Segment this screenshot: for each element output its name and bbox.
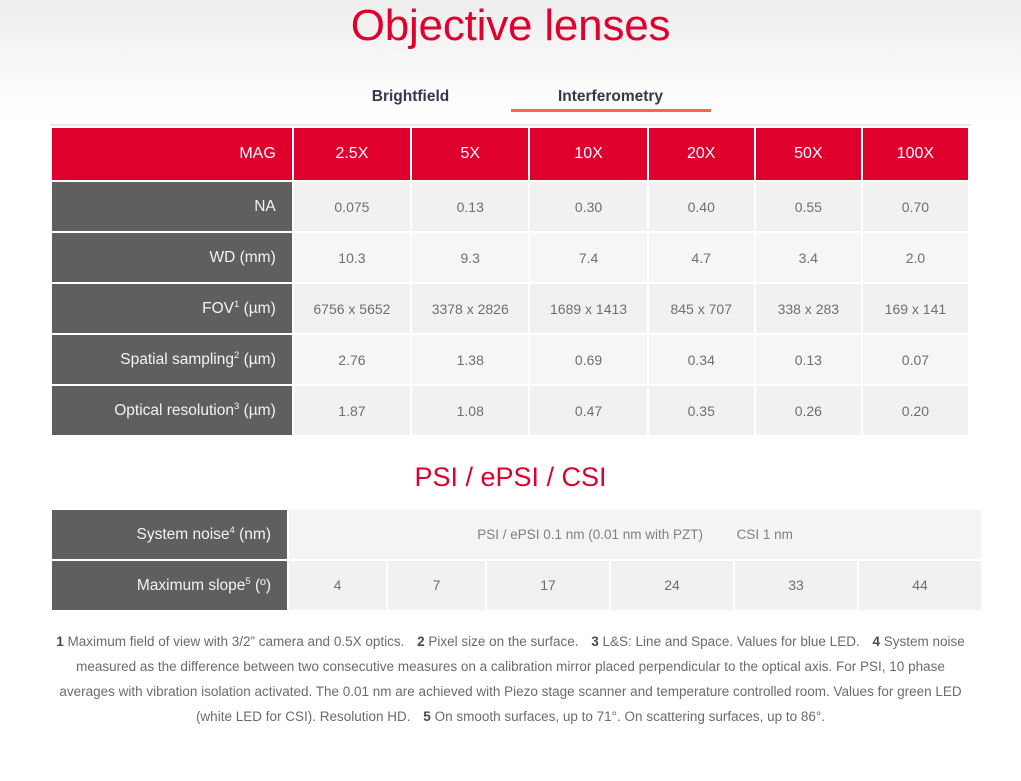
tab-brightfield-label: Brightfield — [372, 88, 450, 105]
row-label-spatial-sampling-superscript: 2 — [234, 350, 239, 361]
table-row: Maximum slope5 (º) 4 7 17 24 33 44 — [52, 561, 981, 610]
cell-wd-20x: 4.7 — [649, 233, 754, 282]
cell-optres-100x: 0.20 — [863, 386, 968, 435]
cell-fov-100x: 169 x 141 — [863, 284, 968, 333]
cell-spatial-50x: 0.13 — [756, 335, 861, 384]
row-label-spatial-sampling: Spatial sampling2 (µm) — [52, 335, 292, 384]
row-label-system-noise-superscript: 4 — [230, 525, 235, 536]
table-row: NA 0.075 0.13 0.30 0.40 0.55 0.70 — [52, 182, 968, 231]
cell-maxslope-4: 24 — [611, 561, 733, 610]
cell-optres-2_5x: 1.87 — [294, 386, 410, 435]
lens-col-header-2: 10X — [530, 128, 646, 180]
row-label-maximum-slope: Maximum slope5 (º) — [52, 561, 287, 610]
lens-col-header-5: 100X — [863, 128, 968, 180]
cell-fov-50x: 338 x 283 — [756, 284, 861, 333]
cell-spatial-2_5x: 2.76 — [294, 335, 410, 384]
row-label-fov: FOV1 (µm) — [52, 284, 292, 333]
cell-na-100x: 0.70 — [863, 182, 968, 231]
tab-bar-divider — [50, 124, 971, 126]
section-title-psi: PSI / ePSI / CSI — [0, 463, 1021, 493]
cell-optres-20x: 0.35 — [649, 386, 754, 435]
cell-fov-5x: 3378 x 2826 — [412, 284, 528, 333]
row-label-wd-unit: (mm) — [240, 249, 276, 266]
cell-wd-10x: 7.4 — [530, 233, 646, 282]
row-label-maximum-slope-superscript: 5 — [245, 576, 250, 587]
lens-col-header-3: 20X — [649, 128, 754, 180]
page-root: Objective lenses Brightfield Interferome… — [0, 0, 1021, 730]
cell-na-10x: 0.30 — [530, 182, 646, 231]
lens-col-header-1: 5X — [412, 128, 528, 180]
footnote-marker-4: 4 — [872, 634, 880, 649]
footnote-text-2: Pixel size on the surface. — [428, 634, 578, 649]
row-label-system-noise-text: System noise — [136, 526, 229, 543]
row-label-wd-text: WD — [209, 249, 235, 266]
tab-bar: Brightfield Interferometry — [0, 82, 1021, 126]
tab-brightfield[interactable]: Brightfield — [311, 82, 511, 106]
row-label-maximum-slope-unit: (º) — [255, 577, 271, 594]
cell-spatial-20x: 0.34 — [649, 335, 754, 384]
row-label-optical-resolution-text: Optical resolution — [114, 402, 234, 419]
cell-na-20x: 0.40 — [649, 182, 754, 231]
cell-maxslope-3: 17 — [487, 561, 609, 610]
row-label-optical-resolution-superscript: 3 — [234, 401, 239, 412]
cell-maxslope-2: 7 — [388, 561, 485, 610]
lens-spec-table: MAG 2.5X 5X 10X 20X 50X 100X NA 0.075 0.… — [50, 126, 970, 437]
cell-spatial-100x: 0.07 — [863, 335, 968, 384]
cell-optres-10x: 0.47 — [530, 386, 646, 435]
cell-fov-20x: 845 x 707 — [649, 284, 754, 333]
row-label-optical-resolution-unit: (µm) — [244, 402, 276, 419]
lens-table-block: MAG 2.5X 5X 10X 20X 50X 100X NA 0.075 0.… — [50, 126, 971, 437]
page-title: Objective lenses — [0, 0, 1021, 48]
system-noise-csi-text: CSI 1 nm — [737, 527, 793, 542]
cell-optres-50x: 0.26 — [756, 386, 861, 435]
footnote-marker-2: 2 — [417, 634, 425, 649]
lens-table-corner-label: MAG — [52, 128, 292, 180]
cell-na-5x: 0.13 — [412, 182, 528, 231]
table-row: Optical resolution3 (µm) 1.87 1.08 0.47 … — [52, 386, 968, 435]
cell-system-noise-span: PSI / ePSI 0.1 nm (0.01 nm with PZT) CSI… — [289, 510, 981, 559]
row-label-fov-unit: (µm) — [244, 300, 276, 317]
cell-wd-100x: 2.0 — [863, 233, 968, 282]
row-label-system-noise-unit: (nm) — [239, 526, 271, 543]
row-label-optical-resolution: Optical resolution3 (µm) — [52, 386, 292, 435]
tab-interferometry[interactable]: Interferometry — [511, 82, 711, 106]
lens-col-header-4: 50X — [756, 128, 861, 180]
table-row: FOV1 (µm) 6756 x 5652 3378 x 2826 1689 x… — [52, 284, 968, 333]
cell-wd-50x: 3.4 — [756, 233, 861, 282]
cell-optres-5x: 1.08 — [412, 386, 528, 435]
lens-col-header-0: 2.5X — [294, 128, 410, 180]
row-label-na-text: NA — [254, 198, 276, 215]
cell-fov-2_5x: 6756 x 5652 — [294, 284, 410, 333]
row-label-maximum-slope-text: Maximum slope — [137, 577, 246, 594]
row-label-fov-text: FOV — [202, 300, 234, 317]
table-row: Spatial sampling2 (µm) 2.76 1.38 0.69 0.… — [52, 335, 968, 384]
row-label-system-noise: System noise4 (nm) — [52, 510, 287, 559]
footnote-text-1: Maximum field of view with 3/2” camera a… — [67, 634, 404, 649]
footnote-marker-3: 3 — [591, 634, 599, 649]
row-label-spatial-sampling-text: Spatial sampling — [120, 351, 234, 368]
table-row: System noise4 (nm) PSI / ePSI 0.1 nm (0.… — [52, 510, 981, 559]
footnotes-block: 1 Maximum field of view with 3/2” camera… — [48, 630, 973, 730]
cell-spatial-10x: 0.69 — [530, 335, 646, 384]
system-noise-psi-text: PSI / ePSI 0.1 nm (0.01 nm with PZT) — [477, 527, 703, 542]
row-label-fov-superscript: 1 — [234, 299, 239, 310]
row-label-spatial-sampling-unit: (µm) — [244, 351, 276, 368]
cell-wd-2_5x: 10.3 — [294, 233, 410, 282]
cell-na-50x: 0.55 — [756, 182, 861, 231]
table-row: WD (mm) 10.3 9.3 7.4 4.7 3.4 2.0 — [52, 233, 968, 282]
cell-na-2_5x: 0.075 — [294, 182, 410, 231]
footnote-marker-5: 5 — [423, 709, 431, 724]
row-label-wd: WD (mm) — [52, 233, 292, 282]
footnote-text-5: On smooth surfaces, up to 71°. On scatte… — [435, 709, 826, 724]
cell-maxslope-5: 33 — [735, 561, 857, 610]
cell-wd-5x: 9.3 — [412, 233, 528, 282]
psi-table-block: System noise4 (nm) PSI / ePSI 0.1 nm (0.… — [50, 508, 971, 612]
cell-maxslope-1: 4 — [289, 561, 386, 610]
tab-interferometry-label: Interferometry — [558, 88, 663, 105]
psi-spec-table: System noise4 (nm) PSI / ePSI 0.1 nm (0.… — [50, 508, 983, 612]
section-spacer — [0, 493, 1021, 508]
footnote-marker-1: 1 — [56, 634, 64, 649]
footnote-text-3: L&S: Line and Space. Values for blue LED… — [603, 634, 860, 649]
lens-table-header-row: MAG 2.5X 5X 10X 20X 50X 100X — [52, 128, 968, 180]
cell-spatial-5x: 1.38 — [412, 335, 528, 384]
row-label-na: NA — [52, 182, 292, 231]
cell-maxslope-6: 44 — [859, 561, 981, 610]
cell-fov-10x: 1689 x 1413 — [530, 284, 646, 333]
